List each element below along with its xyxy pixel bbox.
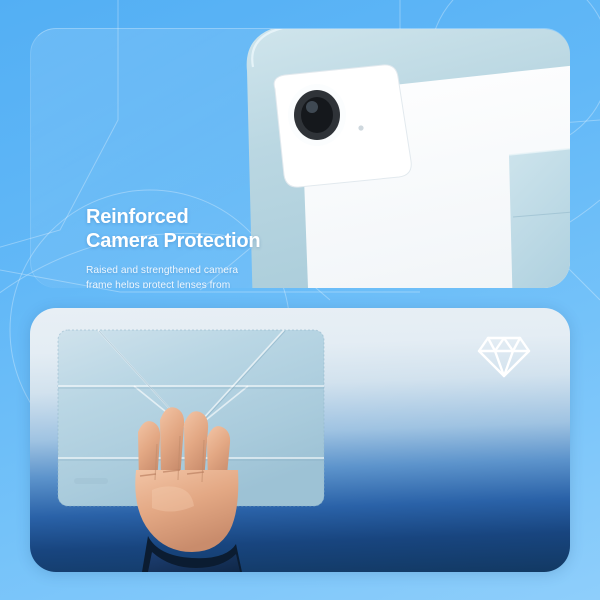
hand-holding-case-image xyxy=(52,320,352,572)
heading-line-2: Camera Protection xyxy=(86,229,346,253)
diamond-icon xyxy=(476,330,532,382)
heading-camera-protection: Reinforced Camera Protection xyxy=(86,205,346,254)
text-block-camera-protection: Reinforced Camera Protection Raised and … xyxy=(86,205,346,288)
body-line-1: Raised and strengthened camera xyxy=(86,263,346,279)
heading-line-1: Reinforced xyxy=(86,206,188,228)
panel-reinforced-camera-protection: Reinforced Camera Protection Raised and … xyxy=(30,28,570,288)
body-camera-protection: Raised and strengthened camera frame hel… xyxy=(86,263,346,288)
panel-premium-anti-slip-finish: Premium Anti-Slip Finish High-quality so… xyxy=(30,308,570,572)
body-line-2: frame helps protect lenses from xyxy=(86,278,346,288)
